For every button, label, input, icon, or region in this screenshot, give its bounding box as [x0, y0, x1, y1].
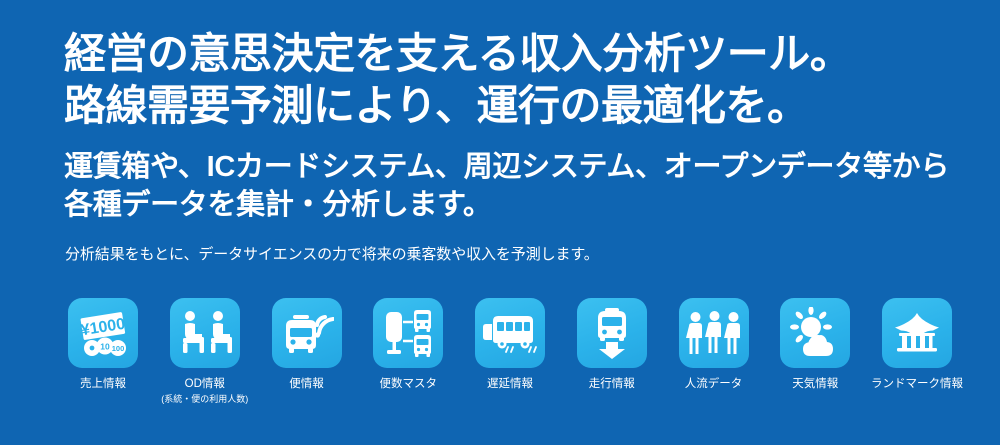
- svg-text:100: 100: [112, 344, 125, 353]
- subheading: 運賃箱や、ICカードシステム、周辺システム、オープンデータ等から 各種データを集…: [64, 148, 974, 224]
- seated-passengers-icon: [170, 298, 240, 368]
- data-source-icon-row: ¥1000 10 100 売上情報: [64, 298, 956, 405]
- icon-item-weather[interactable]: 天気情報: [776, 298, 854, 391]
- bus-wifi-icon: [272, 298, 342, 368]
- icon-label: 便数マスタ: [380, 377, 438, 391]
- icon-label: ランドマーク情報: [871, 377, 963, 391]
- banknote-coins-icon: ¥1000 10 100: [68, 298, 138, 368]
- icon-item-landmark[interactable]: ランドマーク情報: [878, 298, 956, 391]
- icon-item-running[interactable]: 走行情報: [573, 298, 651, 391]
- caption: 分析結果をもとに、データサイエンスの力で将来の乗客数や収入を予測します。: [65, 244, 599, 266]
- subheading-line-1: 運賃箱や、ICカードシステム、周辺システム、オープンデータ等から: [64, 148, 974, 186]
- icon-label: 便情報: [289, 377, 324, 391]
- headline: 経営の意思決定を支える収入分析ツール。 路線需要予測により、運行の最適化を。: [64, 28, 964, 132]
- headline-line-2: 路線需要予測により、運行の最適化を。: [64, 80, 964, 132]
- icon-sublabel: (系統・便の利用人数): [161, 393, 248, 405]
- bus-down-arrow-icon: [577, 298, 647, 368]
- subheading-line-2: 各種データを集計・分析します。: [64, 186, 974, 224]
- svg-text:10: 10: [100, 342, 110, 352]
- icon-label: 天気情報: [792, 377, 838, 391]
- icon-label: 人流データ: [685, 377, 743, 391]
- icon-item-service[interactable]: 便情報: [268, 298, 346, 391]
- icon-item-people-flow[interactable]: 人流データ: [675, 298, 753, 391]
- bus-side-view-icon: [475, 298, 545, 368]
- three-people-icon: [679, 298, 749, 368]
- icon-item-timetable[interactable]: 便数マスタ: [369, 298, 447, 391]
- landmark-temple-icon: [882, 298, 952, 368]
- headline-line-1: 経営の意思決定を支える収入分析ツール。: [64, 28, 964, 80]
- icon-label: 走行情報: [589, 377, 635, 391]
- sun-cloud-icon: [780, 298, 850, 368]
- icon-label: 売上情報: [80, 377, 126, 391]
- icon-label: 遅延情報: [487, 377, 533, 391]
- icon-item-od[interactable]: OD情報 (系統・便の利用人数): [166, 298, 244, 405]
- promo-banner: 経営の意思決定を支える収入分析ツール。 路線需要予測により、運行の最適化を。 運…: [0, 0, 1000, 445]
- bus-stop-pole-icon: [373, 298, 443, 368]
- icon-label: OD情報: [185, 377, 225, 391]
- icon-item-sales[interactable]: ¥1000 10 100 売上情報: [64, 298, 142, 391]
- icon-item-delay[interactable]: 遅延情報: [471, 298, 549, 391]
